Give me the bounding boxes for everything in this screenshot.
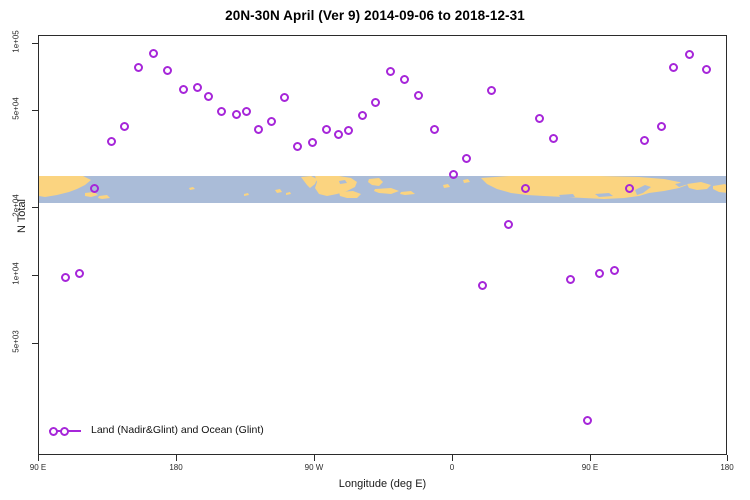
data-point <box>308 138 317 147</box>
legend-dot-left <box>49 427 58 436</box>
data-point <box>535 114 544 123</box>
plot-area: Land (Nadir&Glint) and Ocean (Glint) <box>38 35 727 455</box>
y-tick-label: 2e+04 <box>12 194 21 218</box>
data-point <box>134 63 143 72</box>
data-point <box>242 107 251 116</box>
data-point <box>217 107 226 116</box>
data-point <box>685 50 694 59</box>
data-point <box>610 266 619 275</box>
x-axis-title: Longitude (deg E) <box>38 478 727 490</box>
y-tick-label: 1e+04 <box>12 262 21 286</box>
data-point <box>232 110 241 119</box>
data-point <box>75 269 84 278</box>
data-point <box>549 134 558 143</box>
data-point <box>371 98 380 107</box>
x-tick-mark <box>727 455 728 461</box>
data-point <box>334 130 343 139</box>
x-tick-mark <box>38 455 39 461</box>
x-tick-label: 180 <box>720 463 733 472</box>
x-tick-mark <box>176 455 177 461</box>
data-point <box>61 273 70 282</box>
data-point <box>254 125 263 134</box>
data-point <box>163 66 172 75</box>
x-tick-label: 90 E <box>30 463 46 472</box>
data-point <box>344 126 353 135</box>
data-point <box>414 91 423 100</box>
data-point <box>657 122 666 131</box>
data-point <box>204 92 213 101</box>
data-point <box>90 184 99 193</box>
data-point <box>702 65 711 74</box>
scatter-plot-figure: 20N-30N April (Ver 9) 2014-09-06 to 2018… <box>0 0 750 500</box>
land-basemap <box>39 176 726 203</box>
data-point <box>449 170 458 179</box>
chart-title: 20N-30N April (Ver 9) 2014-09-06 to 2018… <box>0 8 750 23</box>
data-point <box>267 117 276 126</box>
data-point <box>400 75 409 84</box>
x-tick-mark <box>590 455 591 461</box>
data-point <box>430 125 439 134</box>
legend-dot-right <box>60 427 69 436</box>
data-point <box>193 83 202 92</box>
data-point <box>386 67 395 76</box>
data-point <box>120 122 129 131</box>
data-point <box>521 184 530 193</box>
legend-label: Land (Nadir&Glint) and Ocean (Glint) <box>91 424 264 436</box>
x-tick-mark <box>452 455 453 461</box>
legend-marker <box>47 424 87 438</box>
data-point <box>280 93 289 102</box>
data-point <box>179 85 188 94</box>
data-point <box>669 63 678 72</box>
x-tick-label: 90 E <box>582 463 598 472</box>
data-point <box>625 184 634 193</box>
data-point <box>322 125 331 134</box>
world-map-band <box>39 176 726 203</box>
data-point <box>478 281 487 290</box>
x-tick-label: 90 W <box>305 463 324 472</box>
y-tick-label: 5e+03 <box>12 330 21 354</box>
data-point <box>149 49 158 58</box>
data-point <box>462 154 471 163</box>
data-point <box>504 220 513 229</box>
data-point <box>293 142 302 151</box>
data-point <box>487 86 496 95</box>
data-point <box>566 275 575 284</box>
data-point <box>595 269 604 278</box>
x-tick-mark <box>314 455 315 461</box>
data-point <box>583 416 592 425</box>
y-tick-label: 5e+04 <box>12 97 21 121</box>
data-point <box>358 111 367 120</box>
x-tick-label: 0 <box>450 463 454 472</box>
data-point <box>640 136 649 145</box>
data-point <box>107 137 116 146</box>
x-tick-label: 180 <box>169 463 182 472</box>
y-tick-label: 1e+05 <box>12 30 21 54</box>
